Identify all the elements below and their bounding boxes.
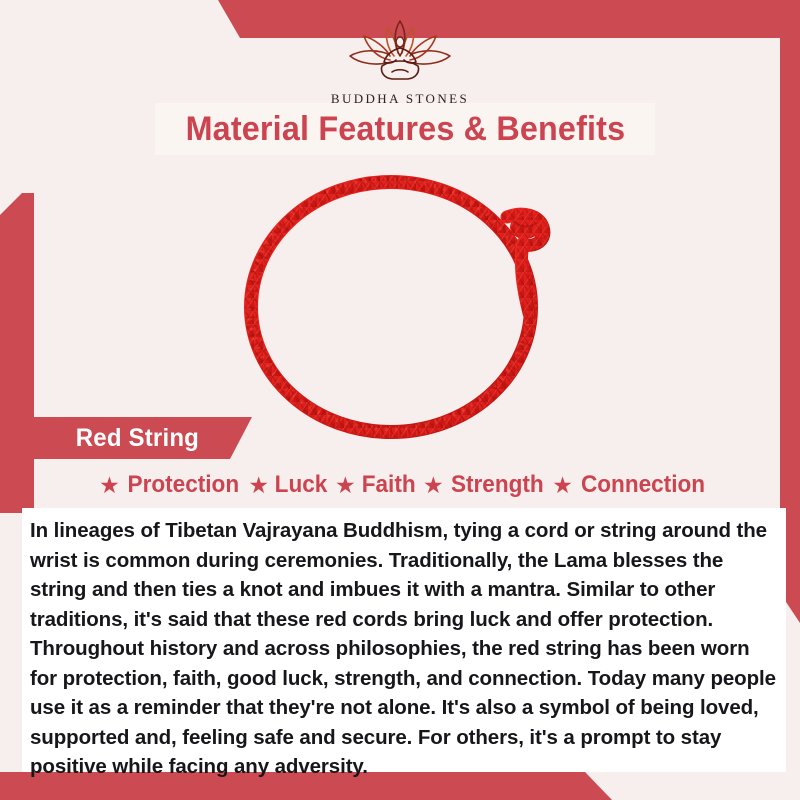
feature-label: Luck — [275, 471, 328, 499]
feature-item-protection: ★ Protection — [99, 471, 242, 499]
star-icon: ★ — [423, 474, 444, 497]
feature-label: Faith — [361, 471, 415, 499]
feature-item-luck: ★ Luck — [248, 471, 329, 499]
feature-list: ★ Protection ★ Luck ★ Faith ★ Strength ★… — [34, 468, 774, 502]
star-icon: ★ — [99, 474, 120, 497]
feature-label: Strength — [451, 471, 544, 499]
lotus-meditation-figure-icon — [330, 16, 470, 88]
star-icon: ★ — [248, 474, 269, 497]
feature-item-faith: ★ Faith — [335, 471, 417, 499]
title-strip: Material Features & Benefits — [155, 103, 655, 155]
description-text: In lineages of Tibetan Vajrayana Buddhis… — [30, 516, 778, 782]
feature-item-strength: ★ Strength — [423, 471, 546, 499]
feature-item-connection: ★ Connection — [552, 471, 709, 499]
infographic-page: BUDDHA STONES Material Features & Benefi… — [0, 0, 800, 800]
red-braided-bracelet-illustration — [155, 155, 655, 455]
brand-logo: BUDDHA STONES — [0, 16, 800, 107]
left-red-bar — [0, 193, 34, 513]
feature-label: Connection — [581, 471, 705, 499]
star-icon: ★ — [335, 474, 356, 497]
page-title: Material Features & Benefits — [185, 110, 625, 149]
description-panel: In lineages of Tibetan Vajrayana Buddhis… — [22, 508, 786, 772]
star-icon: ★ — [552, 474, 573, 497]
feature-label: Protection — [127, 471, 239, 499]
product-image — [155, 155, 655, 455]
material-label: Red String — [37, 424, 199, 453]
material-ribbon: Red String — [34, 417, 252, 459]
